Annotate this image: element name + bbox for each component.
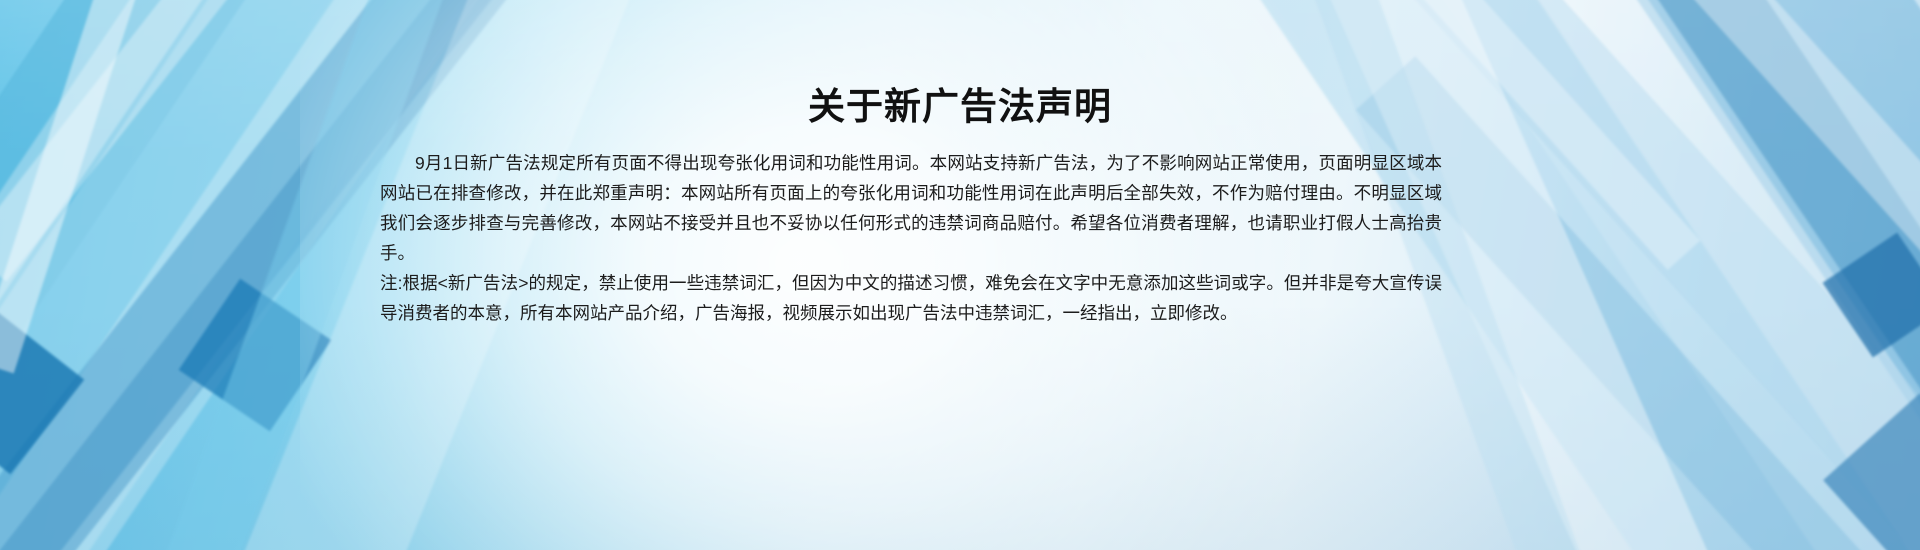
statement-paragraph-main: 9月1日新广告法规定所有页面不得出现夸张化用词和功能性用词。本网站支持新广告法，… xyxy=(380,148,1442,268)
page-title: 关于新广告法声明 xyxy=(0,86,1920,129)
statement-paragraph-note: 注:根据<新广告法>的规定，禁止使用一些违禁词汇，但因为中文的描述习惯，难免会在… xyxy=(380,268,1442,328)
statement-content: 关于新广告法声明 9月1日新广告法规定所有页面不得出现夸张化用词和功能性用词。本… xyxy=(0,0,1920,550)
advertising-law-statement-banner: 关于新广告法声明 9月1日新广告法规定所有页面不得出现夸张化用词和功能性用词。本… xyxy=(0,0,1920,550)
statement-body: 9月1日新广告法规定所有页面不得出现夸张化用词和功能性用词。本网站支持新广告法，… xyxy=(380,148,1442,328)
